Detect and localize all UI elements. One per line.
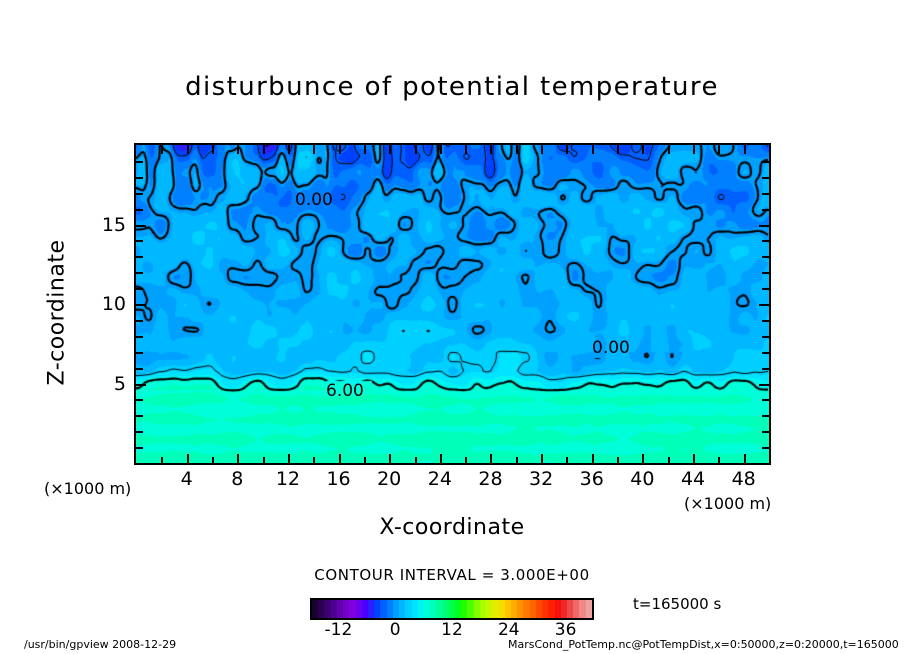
x-tick [769, 457, 771, 463]
x-tick [541, 454, 543, 463]
y-tick [136, 240, 143, 242]
contour-field-canvas [136, 145, 769, 463]
y-tick [136, 272, 143, 274]
x-tick [744, 454, 746, 463]
x-tick-top [364, 145, 366, 154]
x-tick [389, 454, 391, 463]
x-tick [592, 454, 594, 463]
x-tick-top [237, 145, 239, 154]
y-tick [136, 447, 143, 449]
y-tick-right [762, 161, 769, 163]
x-tick-top [592, 145, 594, 154]
colorbar-tick-label: 24 [498, 620, 520, 640]
x-tick [339, 454, 341, 463]
y-axis-unit-note: (×1000 m) [44, 479, 131, 498]
x-tick-top [617, 145, 619, 154]
colorbar-gradient [310, 598, 594, 620]
x-tick [263, 457, 265, 463]
y-tick-right [762, 177, 769, 179]
y-tick [136, 193, 143, 195]
y-tick-right [762, 320, 769, 322]
colorbar-tick-label: 36 [555, 620, 577, 640]
y-tick [136, 161, 143, 163]
colorbar: -120122436 [310, 598, 594, 620]
x-tick-top [642, 145, 644, 154]
x-tick-top [415, 145, 417, 154]
x-tick-top [668, 145, 670, 154]
y-tick-right [762, 336, 769, 338]
x-tick-label: 16 [326, 468, 350, 490]
x-tick-top [339, 145, 341, 154]
x-tick-label: 8 [231, 468, 243, 490]
y-tick-label: 5 [96, 373, 126, 395]
x-tick [693, 454, 695, 463]
x-tick-top [313, 145, 315, 154]
colorbar-tick-label: 0 [390, 620, 401, 640]
x-tick-top [693, 145, 695, 154]
y-tick-right [762, 415, 769, 417]
y-tick-right [762, 272, 769, 274]
x-tick [212, 457, 214, 463]
y-tick [136, 256, 143, 258]
y-tick-right [762, 352, 769, 354]
x-tick [718, 457, 720, 463]
x-tick [364, 457, 366, 463]
y-tick-right [762, 368, 769, 370]
x-tick [415, 457, 417, 463]
y-tick [136, 177, 143, 179]
footer-command: /usr/bin/gpview 2008-12-29 [24, 638, 176, 651]
x-tick-label: 28 [478, 468, 502, 490]
y-tick [136, 304, 146, 306]
y-tick-right [762, 447, 769, 449]
x-tick-top [516, 145, 518, 154]
x-tick [516, 457, 518, 463]
x-tick-top [566, 145, 568, 154]
y-tick [136, 225, 146, 227]
x-tick-label: 20 [377, 468, 401, 490]
y-axis-title: Z-coordinate [45, 213, 70, 413]
y-tick-right [762, 399, 769, 401]
contour-value-label: 0.00 [295, 190, 333, 210]
page-title: disturbunce of potential temperature [0, 72, 904, 102]
x-tick-label: 44 [681, 468, 705, 490]
y-tick-label: 10 [96, 293, 126, 315]
colorbar-tick-label: -12 [325, 620, 353, 640]
x-tick-top [212, 145, 214, 154]
y-tick-right [762, 256, 769, 258]
y-tick [136, 399, 143, 401]
x-tick [490, 454, 492, 463]
contour-plot-area [134, 143, 771, 465]
y-tick [136, 320, 143, 322]
x-tick [465, 457, 467, 463]
x-tick-top [389, 145, 391, 154]
y-tick [136, 336, 143, 338]
contour-value-label: 0.00 [592, 338, 630, 358]
x-tick [187, 454, 189, 463]
footer-dataset: MarsCond_PotTemp.nc@PotTempDist,x=0:5000… [508, 638, 899, 651]
y-tick-right [762, 431, 769, 433]
y-tick-right [759, 384, 769, 386]
y-tick [136, 384, 146, 386]
y-tick [136, 209, 143, 211]
colorbar-tick-label: 12 [441, 620, 463, 640]
contour-value-label: 6.00 [326, 381, 364, 401]
x-tick-top [465, 145, 467, 154]
y-tick-right [759, 304, 769, 306]
x-tick [313, 457, 315, 463]
x-tick [237, 454, 239, 463]
x-tick-top [744, 145, 746, 154]
x-axis-title: X-coordinate [0, 515, 904, 540]
x-tick-top [541, 145, 543, 154]
y-tick-right [759, 225, 769, 227]
contour-interval-label: CONTOUR INTERVAL = 3.000E+00 [0, 566, 904, 584]
x-tick-label: 32 [529, 468, 553, 490]
y-tick-right [762, 240, 769, 242]
y-tick-right [762, 193, 769, 195]
x-axis-unit-note: (×1000 m) [684, 494, 771, 513]
x-tick-top [490, 145, 492, 154]
y-tick [136, 288, 143, 290]
y-tick [136, 352, 143, 354]
colorbar-swatch [586, 600, 592, 618]
x-tick-label: 36 [580, 468, 604, 490]
x-tick-top [769, 145, 771, 154]
x-tick-label: 24 [428, 468, 452, 490]
x-tick-top [718, 145, 720, 154]
y-tick-right [762, 288, 769, 290]
x-tick [161, 457, 163, 463]
x-tick [617, 457, 619, 463]
time-label: t=165000 s [633, 595, 721, 613]
x-tick-label: 40 [630, 468, 654, 490]
y-tick [136, 431, 143, 433]
y-tick [136, 415, 143, 417]
x-tick [440, 454, 442, 463]
y-tick-right [762, 209, 769, 211]
y-tick-label: 15 [96, 214, 126, 236]
x-tick [668, 457, 670, 463]
x-tick [642, 454, 644, 463]
x-tick-label: 4 [181, 468, 193, 490]
x-tick-label: 12 [276, 468, 300, 490]
x-tick [566, 457, 568, 463]
y-tick [136, 368, 143, 370]
x-tick-top [161, 145, 163, 154]
x-tick-top [187, 145, 189, 154]
x-tick-top [440, 145, 442, 154]
x-tick-top [288, 145, 290, 154]
x-tick-top [263, 145, 265, 154]
x-tick [288, 454, 290, 463]
x-tick-label: 48 [732, 468, 756, 490]
